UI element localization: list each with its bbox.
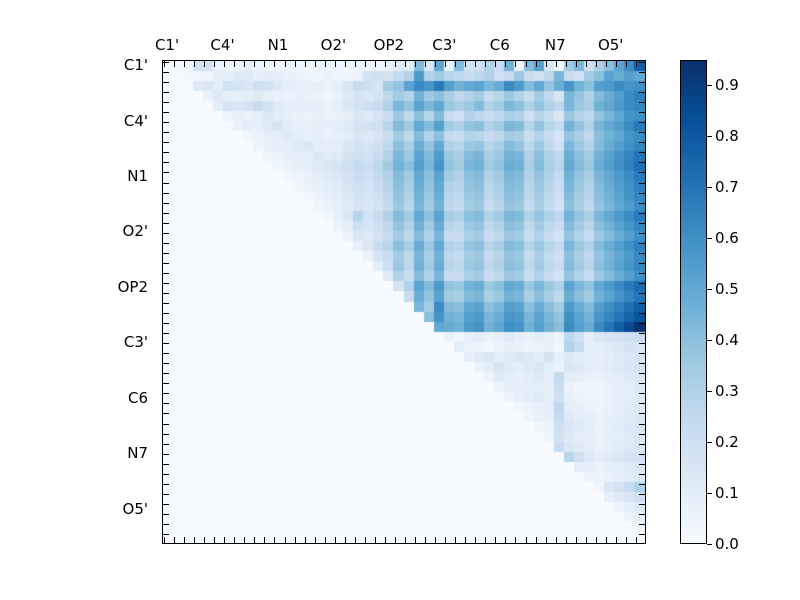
y-tick-mark	[163, 132, 169, 133]
y-tick-mark	[163, 283, 169, 284]
y-tick-mark	[639, 62, 645, 63]
x-tick-mark	[485, 61, 486, 67]
x-tick-mark	[355, 537, 356, 543]
heatmap-plot-area[interactable]	[162, 60, 646, 544]
x-tick-mark	[495, 61, 496, 67]
x-tick-mark	[415, 61, 416, 67]
x-tick-mark	[415, 537, 416, 543]
x-tick-mark	[244, 61, 245, 67]
y-tick-mark	[639, 193, 645, 194]
x-tick-mark	[345, 537, 346, 543]
x-tick-mark	[636, 61, 637, 67]
x-tick-mark	[455, 537, 456, 543]
y-tick-mark	[163, 383, 169, 384]
y-tick-mark	[639, 92, 645, 93]
y-tick-mark	[163, 183, 169, 184]
y-tick-mark	[639, 152, 645, 153]
y-tick-mark	[163, 413, 169, 414]
heatmap-figure: C1'C4'N1O2'OP2C3'C6N7O5' C1'C4'N1O2'OP2C…	[0, 0, 800, 600]
colorbar-tick-4	[707, 340, 712, 341]
x-tick-label-4: OP2	[374, 36, 404, 54]
y-tick-mark	[639, 383, 645, 384]
x-tick-mark	[224, 537, 225, 543]
x-tick-mark	[254, 61, 255, 67]
y-tick-label-1: C4'	[0, 112, 148, 130]
y-tick-label-0: C1'	[0, 56, 148, 74]
x-tick-mark	[536, 537, 537, 543]
x-tick-mark	[465, 61, 466, 67]
y-tick-mark	[639, 524, 645, 525]
y-tick-mark	[639, 263, 645, 264]
y-tick-mark	[163, 373, 169, 374]
x-tick-label-5: C3'	[432, 36, 456, 54]
x-tick-mark	[596, 537, 597, 543]
y-tick-mark	[639, 444, 645, 445]
y-tick-mark	[163, 424, 169, 425]
x-tick-mark	[174, 537, 175, 543]
x-tick-mark	[526, 537, 527, 543]
x-tick-mark	[586, 537, 587, 543]
y-tick-mark	[163, 193, 169, 194]
colorbar-tick-9	[707, 85, 712, 86]
x-tick-mark	[274, 61, 275, 67]
x-tick-mark	[204, 537, 205, 543]
y-tick-mark	[163, 62, 169, 63]
y-tick-mark	[639, 213, 645, 214]
x-tick-mark	[355, 61, 356, 67]
y-tick-mark	[639, 293, 645, 294]
y-tick-mark	[639, 343, 645, 344]
x-tick-mark	[305, 61, 306, 67]
x-tick-mark	[264, 537, 265, 543]
x-tick-mark	[305, 537, 306, 543]
x-tick-mark	[606, 537, 607, 543]
x-tick-mark	[274, 537, 275, 543]
y-tick-mark	[639, 303, 645, 304]
y-tick-mark	[163, 273, 169, 274]
y-tick-mark	[163, 82, 169, 83]
x-tick-mark	[465, 537, 466, 543]
x-tick-mark	[234, 537, 235, 543]
y-tick-mark	[163, 514, 169, 515]
y-tick-mark	[163, 323, 169, 324]
y-tick-label-2: N1	[0, 167, 148, 185]
y-tick-mark	[639, 283, 645, 284]
colorbar-tick-1	[707, 493, 712, 494]
x-tick-mark	[365, 61, 366, 67]
y-tick-mark	[639, 454, 645, 455]
x-tick-label-3: O2'	[321, 36, 346, 54]
y-tick-mark	[163, 253, 169, 254]
x-tick-label-6: C6	[490, 36, 510, 54]
x-tick-mark	[576, 537, 577, 543]
x-tick-mark	[445, 537, 446, 543]
x-tick-mark	[526, 61, 527, 67]
y-tick-mark	[639, 172, 645, 173]
colorbar-tick-label-4: 0.4	[715, 331, 739, 349]
colorbar-tick-2	[707, 442, 712, 443]
y-tick-mark	[163, 263, 169, 264]
y-tick-mark	[639, 373, 645, 374]
x-tick-mark	[184, 537, 185, 543]
y-tick-mark	[639, 122, 645, 123]
colorbar-tick-3	[707, 391, 712, 392]
x-tick-mark	[425, 537, 426, 543]
x-tick-mark	[174, 61, 175, 67]
x-tick-mark	[536, 61, 537, 67]
x-tick-mark	[586, 61, 587, 67]
x-tick-mark	[295, 61, 296, 67]
x-tick-mark	[606, 61, 607, 67]
colorbar-tick-label-2: 0.2	[715, 433, 739, 451]
x-tick-mark	[435, 537, 436, 543]
y-tick-mark	[163, 343, 169, 344]
x-tick-mark	[455, 61, 456, 67]
y-tick-mark	[639, 253, 645, 254]
y-tick-mark	[639, 504, 645, 505]
y-tick-mark	[639, 393, 645, 394]
y-tick-mark	[639, 142, 645, 143]
y-tick-mark	[163, 72, 169, 73]
y-tick-mark	[163, 243, 169, 244]
y-tick-mark	[639, 273, 645, 274]
y-tick-mark	[639, 464, 645, 465]
x-tick-mark	[505, 61, 506, 67]
y-tick-mark	[163, 102, 169, 103]
y-tick-mark	[639, 484, 645, 485]
x-tick-mark	[445, 61, 446, 67]
x-tick-label-8: O5'	[598, 36, 623, 54]
y-tick-mark	[639, 353, 645, 354]
x-tick-mark	[626, 537, 627, 543]
x-tick-mark	[375, 61, 376, 67]
y-tick-mark	[639, 102, 645, 103]
y-tick-mark	[639, 403, 645, 404]
x-tick-mark	[505, 537, 506, 543]
x-tick-mark	[345, 61, 346, 67]
colorbar-tick-label-1: 0.1	[715, 484, 739, 502]
x-tick-mark	[515, 61, 516, 67]
colorbar-tick-label-6: 0.6	[715, 229, 739, 247]
x-tick-mark	[214, 61, 215, 67]
y-tick-mark	[639, 72, 645, 73]
x-tick-mark	[224, 61, 225, 67]
heatmap-matrix[interactable]	[163, 61, 645, 543]
colorbar-tick-label-9: 0.9	[715, 76, 739, 94]
x-tick-mark	[616, 537, 617, 543]
x-tick-mark	[405, 537, 406, 543]
colorbar-tick-label-5: 0.5	[715, 280, 739, 298]
y-tick-mark	[163, 454, 169, 455]
y-tick-label-6: C6	[0, 389, 148, 407]
colorbar-tick-0	[707, 544, 712, 545]
x-tick-mark	[325, 61, 326, 67]
y-tick-mark	[163, 403, 169, 404]
colorbar-tick-6	[707, 238, 712, 239]
y-tick-mark	[163, 484, 169, 485]
y-tick-mark	[163, 293, 169, 294]
y-tick-mark	[163, 142, 169, 143]
x-tick-mark	[214, 537, 215, 543]
y-tick-mark	[639, 413, 645, 414]
y-tick-mark	[639, 333, 645, 334]
x-tick-mark	[515, 537, 516, 543]
x-tick-mark	[385, 61, 386, 67]
y-tick-mark	[163, 223, 169, 224]
x-tick-mark	[315, 537, 316, 543]
x-tick-mark	[425, 61, 426, 67]
y-tick-mark	[163, 524, 169, 525]
y-tick-mark	[163, 393, 169, 394]
x-tick-mark	[626, 61, 627, 67]
x-tick-mark	[435, 61, 436, 67]
x-tick-mark	[475, 537, 476, 543]
y-tick-mark	[639, 243, 645, 244]
y-tick-mark	[639, 534, 645, 535]
x-tick-label-2: N1	[268, 36, 289, 54]
x-tick-mark	[325, 537, 326, 543]
colorbar-tick-label-0: 0.0	[715, 535, 739, 553]
x-tick-mark	[234, 61, 235, 67]
y-tick-mark	[163, 172, 169, 173]
x-tick-mark	[194, 537, 195, 543]
y-tick-mark	[163, 313, 169, 314]
x-tick-mark	[485, 537, 486, 543]
x-tick-mark	[184, 61, 185, 67]
x-tick-mark	[375, 537, 376, 543]
y-tick-mark	[639, 313, 645, 314]
y-tick-mark	[639, 223, 645, 224]
x-tick-mark	[204, 61, 205, 67]
y-tick-mark	[639, 82, 645, 83]
y-tick-mark	[163, 233, 169, 234]
x-tick-label-7: N7	[545, 36, 566, 54]
colorbar-gradient	[681, 61, 706, 543]
colorbar-tick-7	[707, 187, 712, 188]
y-tick-mark	[163, 444, 169, 445]
y-tick-label-7: N7	[0, 444, 148, 462]
x-tick-mark	[254, 537, 255, 543]
x-tick-mark	[395, 61, 396, 67]
colorbar-tick-8	[707, 136, 712, 137]
x-tick-mark	[566, 537, 567, 543]
y-tick-mark	[639, 183, 645, 184]
x-tick-mark	[576, 61, 577, 67]
colorbar[interactable]	[680, 60, 707, 544]
x-tick-mark	[495, 537, 496, 543]
y-tick-mark	[163, 534, 169, 535]
y-tick-label-8: O5'	[0, 500, 148, 518]
y-tick-mark	[639, 112, 645, 113]
x-tick-mark	[335, 61, 336, 67]
x-tick-mark	[315, 61, 316, 67]
x-tick-mark	[335, 537, 336, 543]
x-tick-mark	[385, 537, 386, 543]
x-tick-mark	[616, 61, 617, 67]
y-tick-mark	[639, 162, 645, 163]
x-tick-mark	[636, 537, 637, 543]
y-tick-mark	[163, 112, 169, 113]
colorbar-tick-label-7: 0.7	[715, 178, 739, 196]
x-tick-mark	[566, 61, 567, 67]
y-tick-mark	[163, 122, 169, 123]
y-tick-mark	[163, 474, 169, 475]
y-tick-mark	[639, 132, 645, 133]
y-tick-mark	[163, 333, 169, 334]
y-tick-mark	[163, 353, 169, 354]
y-tick-mark	[163, 504, 169, 505]
y-tick-mark	[639, 233, 645, 234]
y-tick-mark	[163, 162, 169, 163]
x-tick-label-1: C4'	[210, 36, 234, 54]
y-tick-mark	[639, 474, 645, 475]
y-tick-label-4: OP2	[0, 278, 148, 296]
y-tick-mark	[163, 203, 169, 204]
y-tick-mark	[163, 464, 169, 465]
x-tick-mark	[244, 537, 245, 543]
x-tick-mark	[546, 537, 547, 543]
y-tick-mark	[639, 514, 645, 515]
x-tick-mark	[365, 537, 366, 543]
x-tick-mark	[194, 61, 195, 67]
y-tick-mark	[163, 152, 169, 153]
y-tick-mark	[639, 323, 645, 324]
y-tick-mark	[639, 434, 645, 435]
y-tick-mark	[639, 203, 645, 204]
y-tick-mark	[163, 303, 169, 304]
y-tick-mark	[163, 434, 169, 435]
x-tick-mark	[556, 537, 557, 543]
y-tick-mark	[163, 494, 169, 495]
y-tick-mark	[163, 363, 169, 364]
x-tick-mark	[285, 537, 286, 543]
x-tick-label-0: C1'	[155, 36, 179, 54]
y-tick-label-5: C3'	[0, 333, 148, 351]
x-tick-mark	[264, 61, 265, 67]
x-tick-mark	[475, 61, 476, 67]
colorbar-tick-label-8: 0.8	[715, 127, 739, 145]
y-tick-mark	[639, 494, 645, 495]
y-tick-label-3: O2'	[0, 222, 148, 240]
x-tick-mark	[295, 537, 296, 543]
x-tick-mark	[546, 61, 547, 67]
x-tick-mark	[556, 61, 557, 67]
x-tick-mark	[596, 61, 597, 67]
x-tick-mark	[405, 61, 406, 67]
x-tick-mark	[164, 537, 165, 543]
colorbar-tick-5	[707, 289, 712, 290]
colorbar-tick-label-3: 0.3	[715, 382, 739, 400]
x-tick-mark	[285, 61, 286, 67]
y-tick-mark	[639, 363, 645, 364]
y-tick-mark	[639, 424, 645, 425]
y-tick-mark	[163, 213, 169, 214]
y-tick-mark	[163, 92, 169, 93]
x-tick-mark	[395, 537, 396, 543]
